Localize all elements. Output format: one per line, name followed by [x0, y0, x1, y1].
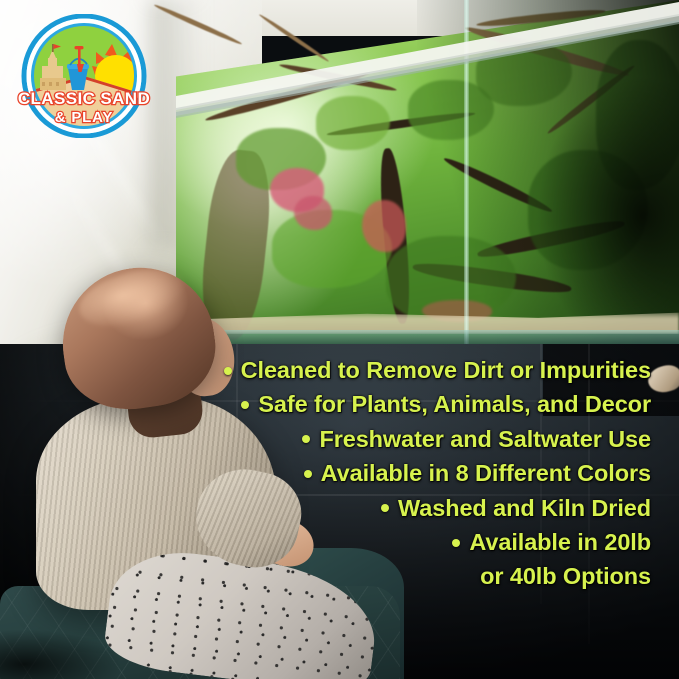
- feature-text: Washed and Kiln Dried: [398, 496, 651, 521]
- feature-text: or 40lb Options: [480, 564, 651, 589]
- bullet-dot-icon: [381, 504, 389, 512]
- product-marketing-image: Cleaned to Remove Dirt or Impurities Saf…: [0, 0, 679, 679]
- feature-bullet-list: Cleaned to Remove Dirt or Impurities Saf…: [0, 358, 679, 590]
- svg-text:CLASSIC SAND: CLASSIC SAND: [18, 89, 150, 108]
- feature-bullet: Available in 20lb: [452, 530, 651, 555]
- bullet-dot-icon: [224, 367, 232, 375]
- feature-bullet-continuation: or 40lb Options: [463, 564, 651, 589]
- glass-corner-seam: [464, 0, 469, 348]
- feature-text: Cleaned to Remove Dirt or Impurities: [241, 358, 651, 383]
- bullet-dot-icon: [304, 470, 312, 478]
- logo-wordmark: CLASSIC SAND & PLAY: [18, 89, 150, 126]
- red-aquatic-plant: [294, 196, 332, 230]
- feature-text: Available in 8 Different Colors: [321, 461, 651, 486]
- bullet-dot-icon: [241, 401, 249, 409]
- bullet-dot-icon: [452, 539, 460, 547]
- feature-bullet: Washed and Kiln Dried: [381, 496, 651, 521]
- feature-text: Safe for Plants, Animals, and Decor: [258, 392, 651, 417]
- brand-logo: CLASSIC SAND & PLAY: [8, 14, 160, 138]
- planted-aquarium: [176, 0, 679, 348]
- aquarium-shadow-region: [417, 0, 679, 348]
- logo-svg: CLASSIC SAND & PLAY: [8, 14, 160, 138]
- feature-bullet: Cleaned to Remove Dirt or Impurities: [224, 358, 651, 383]
- feature-bullet: Safe for Plants, Animals, and Decor: [241, 392, 651, 417]
- feature-bullet: Freshwater and Saltwater Use: [302, 427, 651, 452]
- feature-text: Available in 20lb: [469, 530, 651, 555]
- feature-text: Freshwater and Saltwater Use: [319, 427, 651, 452]
- red-aquatic-plant: [362, 200, 406, 252]
- feature-bullet: Available in 8 Different Colors: [304, 461, 651, 486]
- seat-shadow: [0, 630, 120, 679]
- svg-text:& PLAY: & PLAY: [55, 109, 113, 126]
- bullet-dot-icon: [302, 435, 310, 443]
